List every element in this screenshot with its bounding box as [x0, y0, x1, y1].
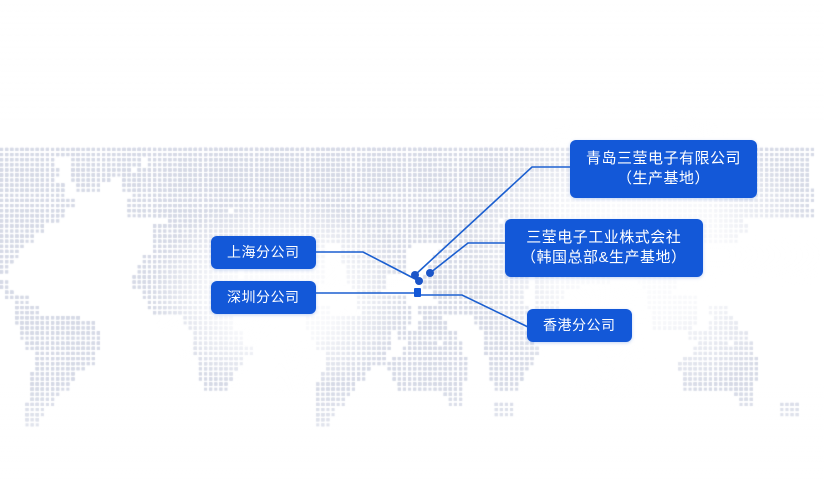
label-shenzhen-text: 深圳分公司 [227, 288, 300, 307]
label-shenzhen[interactable]: 深圳分公司 [211, 281, 316, 314]
map-marker-shenzhen[interactable] [414, 288, 421, 297]
label-korea-line1: 三莹电子工业株式会社 [526, 228, 681, 248]
connector-shanghai [311, 252, 419, 281]
label-korea-hq[interactable]: 三莹电子工业株式会社 （韩国总部&生产基地） [505, 219, 703, 277]
label-shanghai-text: 上海分公司 [227, 243, 300, 262]
connector-korea [430, 243, 505, 273]
label-shanghai[interactable]: 上海分公司 [211, 236, 316, 269]
label-hongkong[interactable]: 香港分公司 [527, 309, 632, 342]
label-qingdao[interactable]: 青岛三莹电子有限公司 （生产基地） [570, 140, 757, 198]
label-korea-line2: （韩国总部&生产基地） [521, 248, 687, 268]
label-qingdao-line2: （生产基地） [617, 169, 710, 189]
world-map-diagram: 青岛三莹电子有限公司 （生产基地） 三莹电子工业株式会社 （韩国总部&生产基地）… [0, 0, 824, 480]
connector-hongkong [417, 295, 528, 327]
map-marker-korea[interactable] [426, 269, 434, 277]
label-hongkong-text: 香港分公司 [543, 316, 616, 335]
map-marker-shanghai[interactable] [415, 277, 423, 285]
label-qingdao-line1: 青岛三莹电子有限公司 [586, 149, 741, 169]
